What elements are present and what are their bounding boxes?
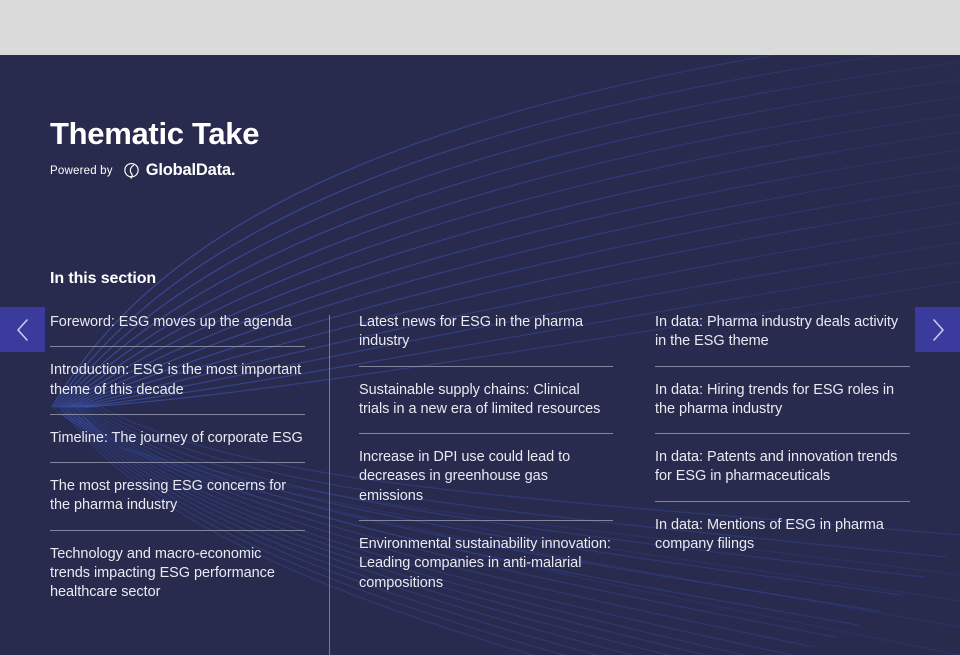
toc-link[interactable]: In data: Pharma industry deals activity … (655, 313, 910, 352)
list-item: Latest news for ESG in the pharma indust… (359, 313, 613, 352)
slide-canvas: Thematic Take Powered by GlobalData. In … (0, 55, 960, 655)
toc-link[interactable]: In data: Mentions of ESG in pharma compa… (655, 516, 910, 555)
list-item: Timeline: The journey of corporate ESG (50, 429, 305, 448)
toc-separator (359, 366, 613, 367)
toc-separator (50, 530, 305, 531)
list-item: In data: Mentions of ESG in pharma compa… (655, 516, 910, 555)
list-item: The most pressing ESG concerns for the p… (50, 477, 305, 516)
toc-column-3: In data: Pharma industry deals activity … (605, 313, 910, 603)
globaldata-wordmark: GlobalData. (146, 161, 236, 180)
toc-separator (655, 501, 910, 502)
toc-link[interactable]: The most pressing ESG concerns for the p… (50, 477, 305, 516)
list-item: In data: Pharma industry deals activity … (655, 313, 910, 352)
toc-separator (359, 433, 613, 434)
list-item: Technology and macro-economic trends imp… (50, 545, 305, 603)
toc-link[interactable]: In data: Hiring trends for ESG roles in … (655, 381, 910, 420)
chevron-left-icon (14, 317, 32, 343)
globaldata-logo: GlobalData. (122, 161, 236, 180)
slide-header: Thematic Take Powered by GlobalData. (50, 118, 259, 181)
chevron-right-icon (929, 317, 947, 343)
top-gray-band (0, 0, 960, 55)
column-divider (329, 315, 330, 655)
toc-separator (655, 433, 910, 434)
toc-link[interactable]: Increase in DPI use could lead to decrea… (359, 448, 613, 506)
toc-link[interactable]: Foreword: ESG moves up the agenda (50, 313, 305, 332)
list-item: In data: Patents and innovation trends f… (655, 448, 910, 487)
toc-link[interactable]: Environmental sustainability innovation:… (359, 535, 613, 593)
globaldata-logo-icon (122, 161, 141, 180)
toc-separator (50, 346, 305, 347)
list-item: Sustainable supply chains: Clinical tria… (359, 381, 613, 420)
toc-link[interactable]: Technology and macro-economic trends imp… (50, 545, 305, 603)
toc-columns: Foreword: ESG moves up the agenda Introd… (0, 313, 960, 603)
toc-separator (655, 366, 910, 367)
toc-separator (50, 414, 305, 415)
toc-link[interactable]: Timeline: The journey of corporate ESG (50, 429, 305, 448)
list-item: In data: Hiring trends for ESG roles in … (655, 381, 910, 420)
page-title: Thematic Take (50, 118, 259, 151)
list-item: Increase in DPI use could lead to decrea… (359, 448, 613, 506)
section-heading: In this section (50, 270, 156, 288)
toc-link[interactable]: Sustainable supply chains: Clinical tria… (359, 381, 613, 420)
toc-link[interactable]: In data: Patents and innovation trends f… (655, 448, 910, 487)
list-item: Introduction: ESG is the most important … (50, 361, 305, 400)
toc-column-1: Foreword: ESG moves up the agenda Introd… (0, 313, 305, 603)
powered-by-label: Powered by (50, 165, 113, 177)
toc-column-2: Latest news for ESG in the pharma indust… (305, 313, 605, 603)
toc-separator (50, 462, 305, 463)
toc-link[interactable]: Introduction: ESG is the most important … (50, 361, 305, 400)
list-item: Environmental sustainability innovation:… (359, 535, 613, 593)
toc-link[interactable]: Latest news for ESG in the pharma indust… (359, 313, 613, 352)
toc-separator (359, 520, 613, 521)
next-slide-button[interactable] (915, 307, 960, 352)
list-item: Foreword: ESG moves up the agenda (50, 313, 305, 332)
slide-viewer: Thematic Take Powered by GlobalData. In … (0, 0, 960, 655)
prev-slide-button[interactable] (0, 307, 45, 352)
powered-by-row: Powered by GlobalData. (50, 161, 259, 181)
